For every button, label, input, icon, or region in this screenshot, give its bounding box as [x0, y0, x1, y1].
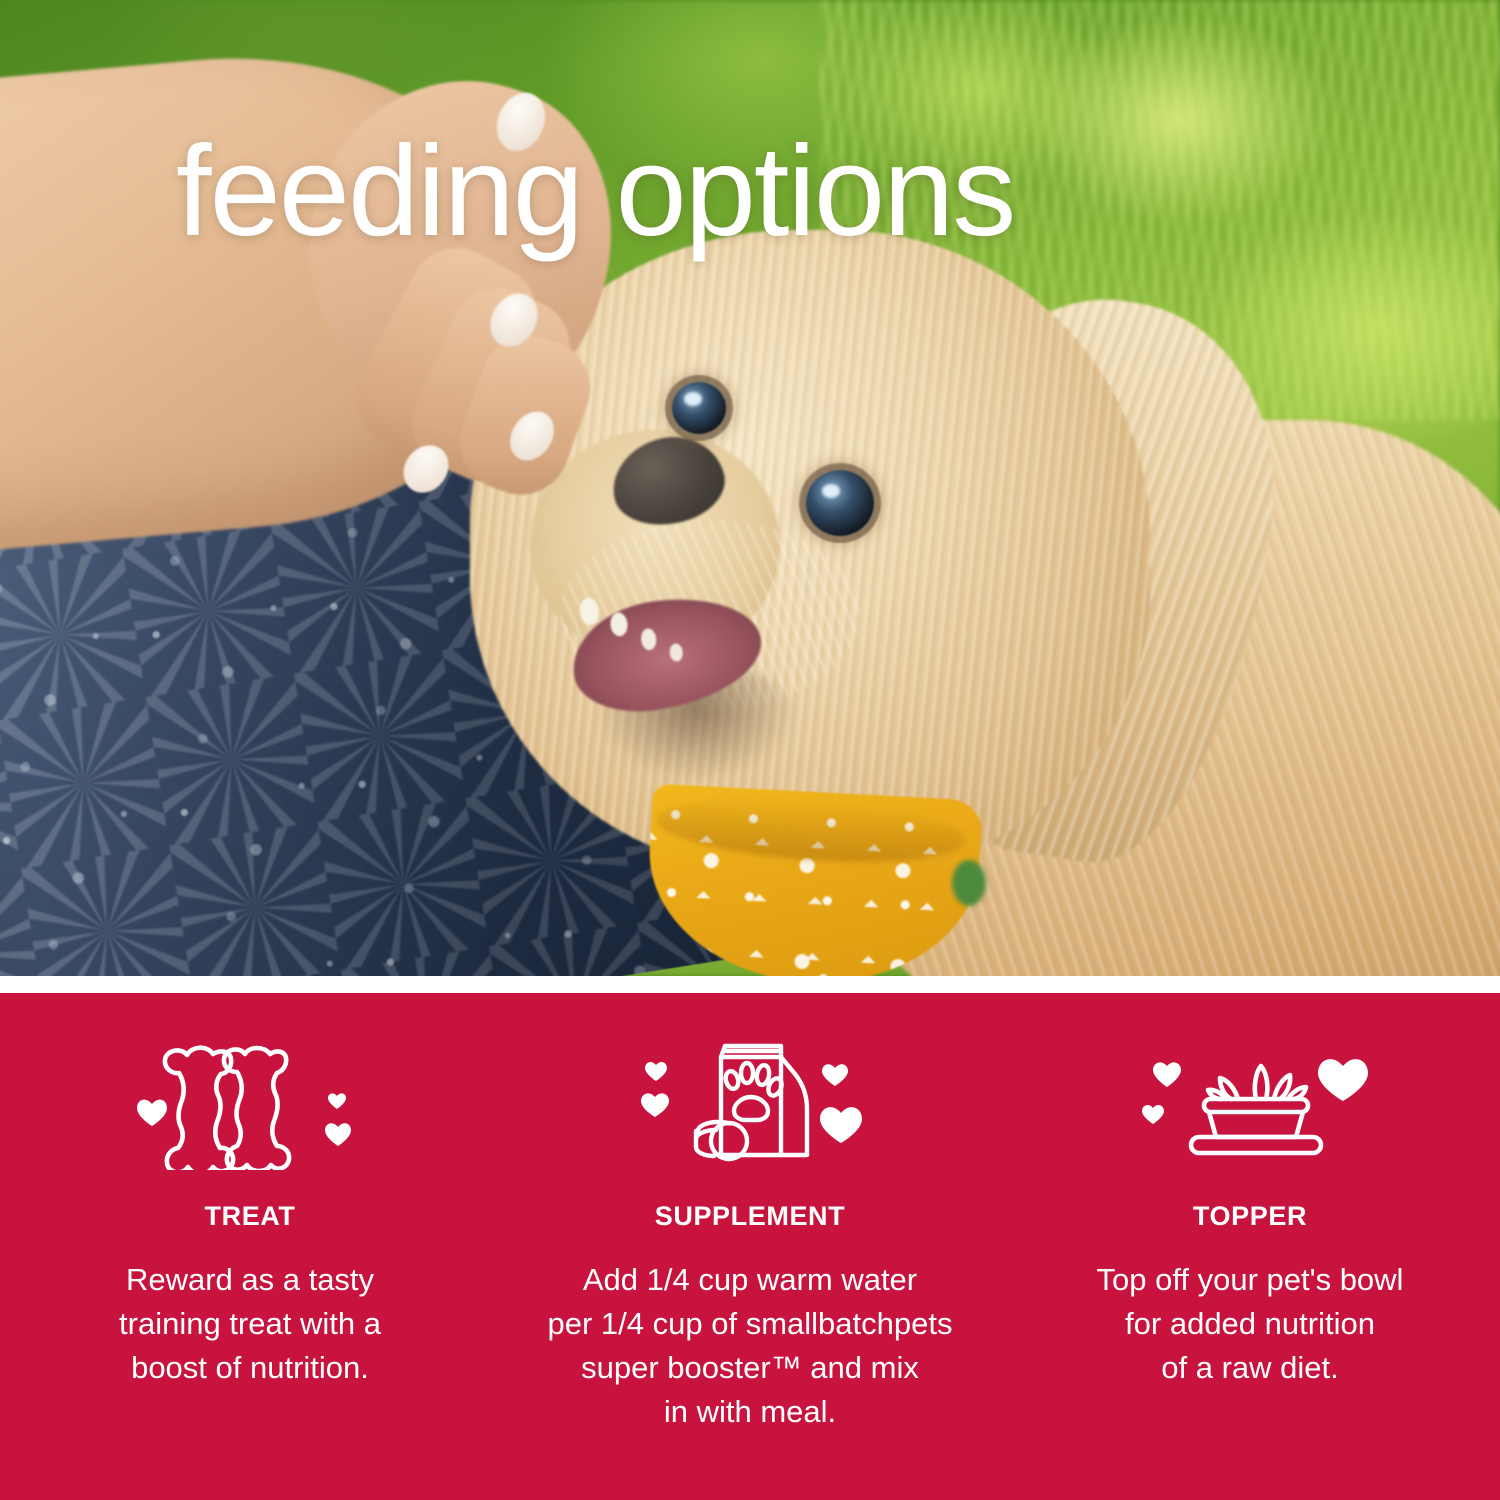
- option-column-topper: TOPPER Top off your pet's bowl for added…: [1000, 993, 1500, 1390]
- option-column-supplement: SUPPLEMENT Add 1/4 cup warm water per 1/…: [500, 993, 1000, 1434]
- option-title-topper: TOPPER: [1193, 1201, 1307, 1232]
- dog-teeth: [572, 585, 712, 680]
- eye-highlight: [684, 392, 702, 406]
- dog-bones-hearts-icon: [125, 1035, 375, 1175]
- supplement-bag-paw-hearts-icon: [625, 1035, 875, 1175]
- dog-right-eye: [806, 470, 874, 536]
- option-title-treat: TREAT: [205, 1201, 296, 1232]
- page-title: feeding options: [176, 128, 1014, 256]
- dog-left-eye: [672, 382, 726, 434]
- option-title-supplement: SUPPLEMENT: [655, 1201, 846, 1232]
- option-body-supplement: Add 1/4 cup warm water per 1/4 cup of sm…: [515, 1258, 985, 1434]
- option-body-topper: Top off your pet's bowl for added nutrit…: [1050, 1258, 1450, 1390]
- food-bowl-topper-hearts-icon: [1125, 1035, 1375, 1175]
- hero-photo-banner: feeding options: [0, 0, 1500, 976]
- feeding-options-infographic: feeding options: [0, 0, 1500, 1500]
- feeding-options-panel: TREAT Reward as a tasty training treat w…: [0, 993, 1500, 1500]
- options-columns: TREAT Reward as a tasty training treat w…: [0, 993, 1500, 1500]
- option-column-treat: TREAT Reward as a tasty training treat w…: [0, 993, 500, 1390]
- eye-highlight: [822, 484, 840, 498]
- bandana-green-accent: [952, 860, 986, 906]
- option-body-treat: Reward as a tasty training treat with a …: [85, 1258, 415, 1390]
